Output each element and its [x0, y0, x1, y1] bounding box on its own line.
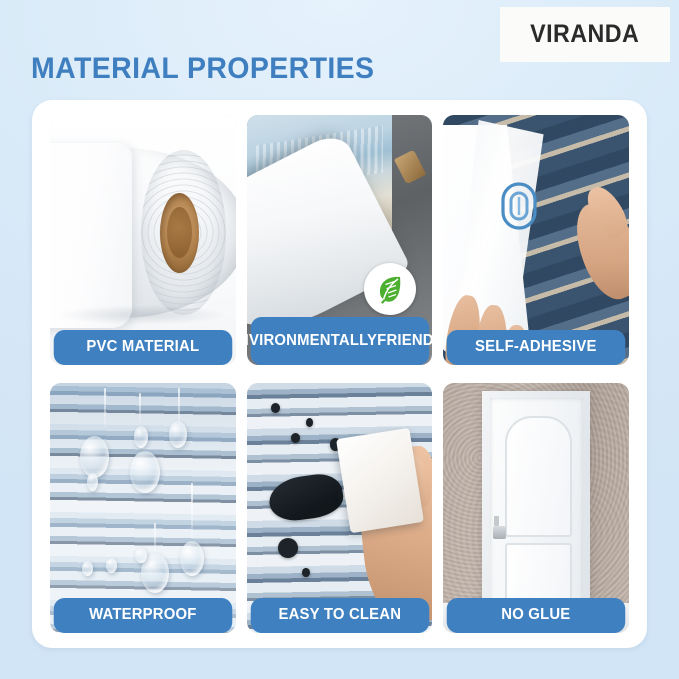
feature-label-pvc-material: PVC MATERIAL [54, 330, 232, 365]
feature-label-no-glue: NO GLUE [447, 598, 625, 633]
features-card: PVC MATERIAL [32, 100, 647, 648]
feature-label-self-adhesive: SELF-ADHESIVE [447, 330, 625, 365]
features-grid: PVC MATERIAL [50, 115, 629, 633]
pvc-roll-image [50, 115, 236, 365]
brand-name: VIRANDA [530, 20, 639, 49]
feature-tile-easy-to-clean[interactable]: EASY TO CLEAN [247, 383, 433, 633]
feature-tile-waterproof[interactable]: WATERPROOF [50, 383, 236, 633]
no-glue-image [443, 383, 629, 633]
leaf-badge [364, 263, 416, 315]
feature-tile-no-glue[interactable]: NO GLUE [443, 383, 629, 633]
brand-logo-box: VIRANDA [500, 7, 670, 62]
feature-label-waterproof: WATERPROOF [54, 598, 232, 633]
feature-label-easy-to-clean: EASY TO CLEAN [250, 598, 428, 633]
page-title: MATERIAL PROPERTIES [31, 52, 374, 86]
feature-tile-pvc-material[interactable]: PVC MATERIAL [50, 115, 236, 365]
poster-root: VIRANDA MATERIAL PROPERTIES PVC MATERIAL [0, 0, 679, 679]
easy-to-clean-image [247, 383, 433, 633]
feature-label-environmentally-friendly: ENVIRONMENTALLY FRIENDLY [250, 317, 428, 365]
label-line-2: FRIENDLY [377, 333, 433, 349]
paperclip-icon [499, 180, 539, 232]
feature-tile-self-adhesive[interactable]: SELF-ADHESIVE [443, 115, 629, 365]
feature-tile-environmentally-friendly[interactable]: ENVIRONMENTALLY FRIENDLY [247, 115, 433, 365]
label-line-1: ENVIRONMENTALLY [247, 333, 377, 349]
waterproof-image [50, 383, 236, 633]
leaf-icon [373, 272, 407, 306]
self-adhesive-image [443, 115, 629, 365]
